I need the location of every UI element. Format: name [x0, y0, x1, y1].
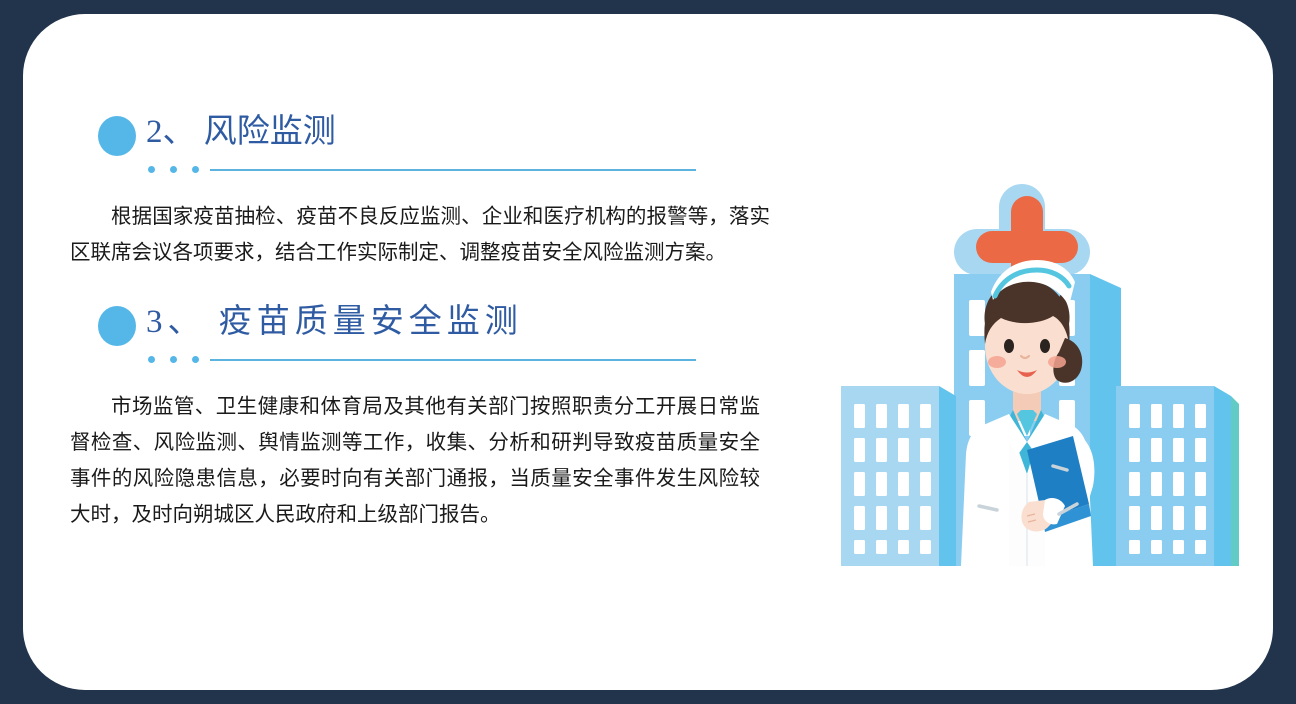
section-2-heading-row: 2、 风险监测	[68, 109, 808, 163]
section-2-body: 根据国家疫苗抽检、疫苗不良反应监测、企业和医疗机构的报警等，落实区联席会议各项要…	[68, 199, 772, 271]
divider-dot-icon	[192, 356, 199, 363]
section-3-heading-row: 3、 疫苗质量安全监测	[68, 299, 808, 353]
section-vaccine-quality-safety: 3、 疫苗质量安全监测 市场监管、卫生健康和体育局及其他有关部门按照职责分工开展…	[68, 299, 808, 533]
divider-dot-icon	[148, 166, 155, 173]
section-2-divider	[148, 161, 808, 177]
divider-dot-icon	[192, 166, 199, 173]
divider-dot-icon	[170, 356, 177, 363]
left-building	[841, 386, 956, 566]
hospital-nurse-illustration	[831, 174, 1251, 604]
bullet-circle-icon	[98, 116, 136, 156]
section-3-divider	[148, 351, 808, 367]
content-column: 2、 风险监测 根据国家疫苗抽检、疫苗不良反应监测、企业和医疗机构的报警等，落实…	[68, 109, 808, 533]
section-2-title: 2、 风险监测	[146, 109, 336, 155]
right-building	[1116, 386, 1239, 566]
divider-line	[210, 359, 696, 361]
divider-dot-icon	[148, 356, 155, 363]
section-3-title: 3、 疫苗质量安全监测	[146, 299, 523, 345]
divider-line	[210, 169, 696, 171]
section-risk-monitoring: 2、 风险监测 根据国家疫苗抽检、疫苗不良反应监测、企业和医疗机构的报警等，落实…	[68, 109, 808, 271]
slide-background: 2、 风险监测 根据国家疫苗抽检、疫苗不良反应监测、企业和医疗机构的报警等，落实…	[0, 0, 1296, 704]
section-3-body: 市场监管、卫生健康和体育局及其他有关部门按照职责分工开展日常监督检查、风险监测、…	[68, 389, 762, 533]
divider-dot-icon	[170, 166, 177, 173]
bullet-circle-icon	[98, 306, 136, 346]
slide-card: 2、 风险监测 根据国家疫苗抽检、疫苗不良反应监测、企业和医疗机构的报警等，落实…	[23, 14, 1273, 690]
